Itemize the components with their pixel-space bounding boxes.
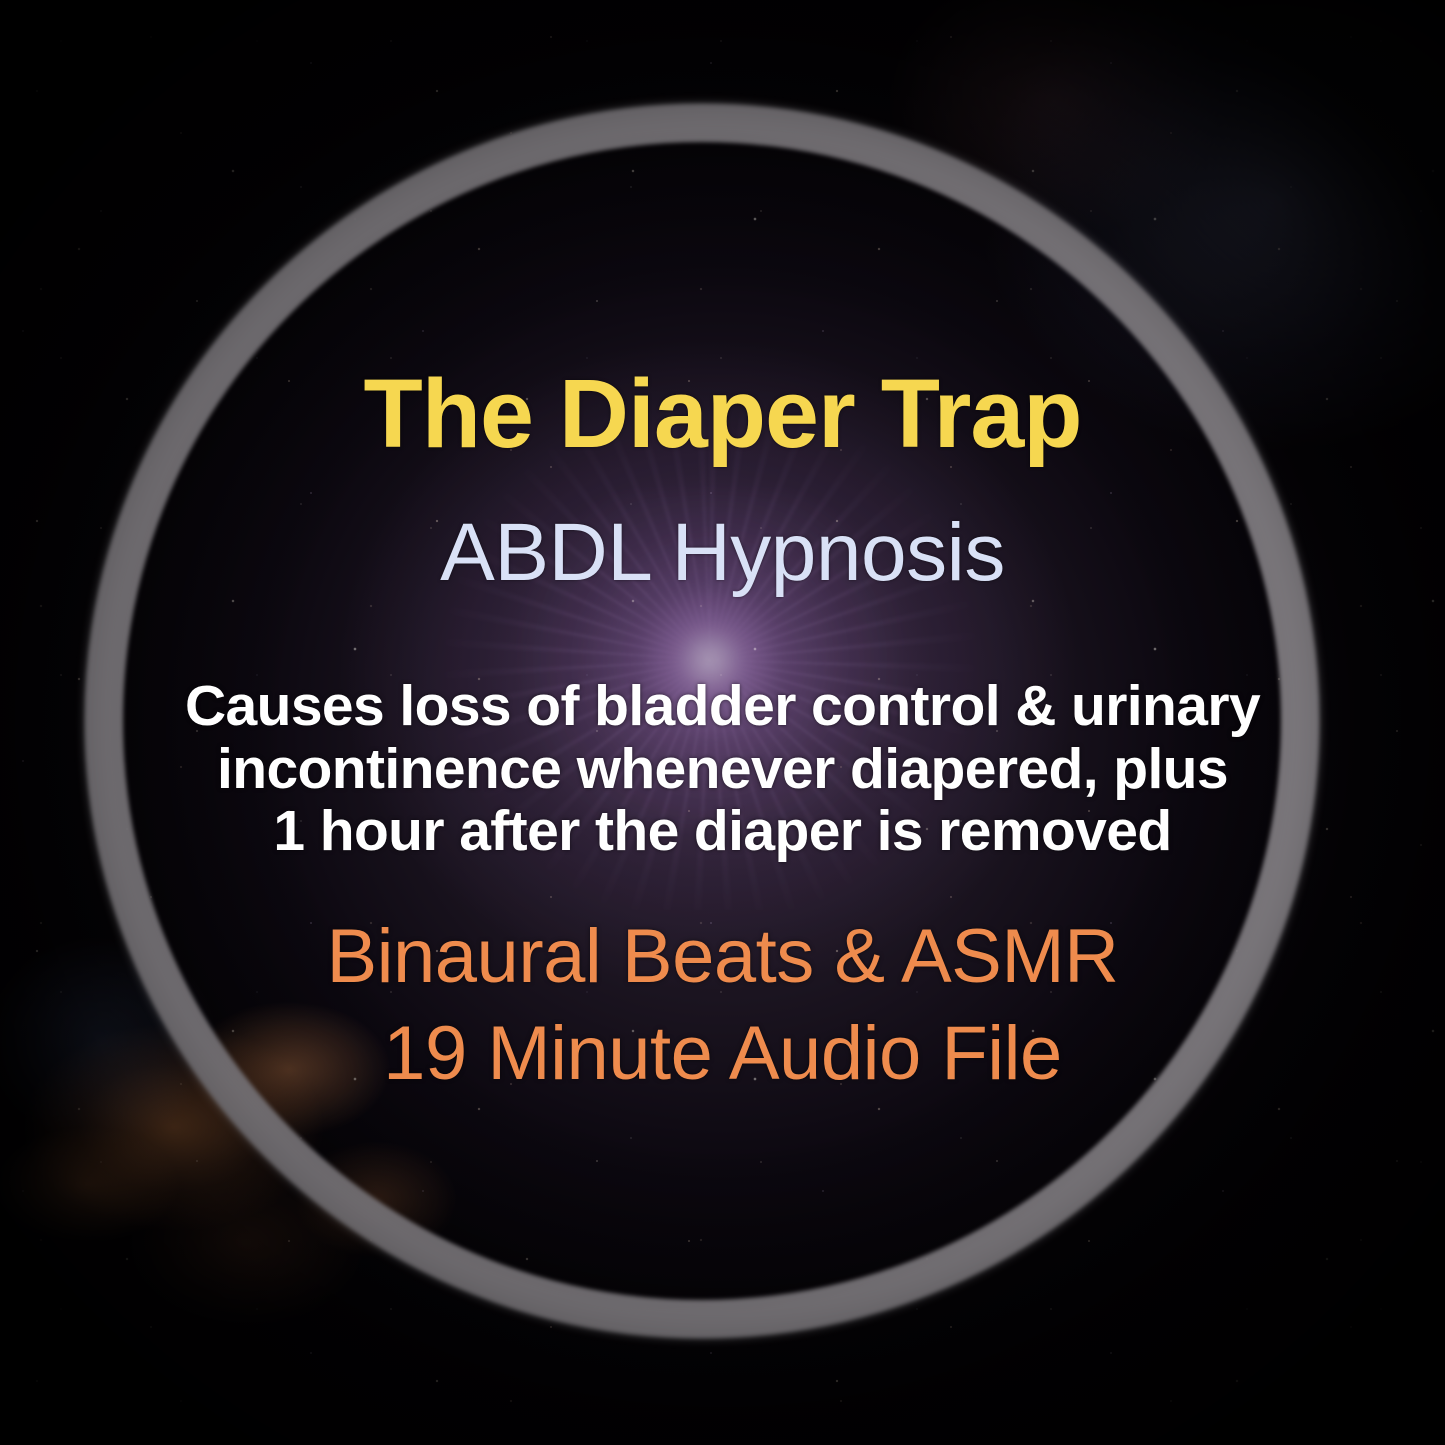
poster-subtitle: ABDL Hypnosis: [0, 508, 1445, 598]
poster-title: The Diaper Trap: [0, 362, 1445, 467]
text-content: The Diaper Trap ABDL Hypnosis Causes los…: [0, 0, 1445, 1445]
poster-tagline: Binaural Beats & ASMR 19 Minute Audio Fi…: [0, 908, 1445, 1103]
tagline-line-1: Binaural Beats & ASMR: [0, 908, 1445, 1005]
tagline-line-2: 19 Minute Audio File: [0, 1005, 1445, 1102]
poster-description: Causes loss of bladder control & urinary…: [0, 675, 1445, 863]
description-line-2: incontinence whenever diapered, plus: [0, 738, 1445, 801]
poster-canvas: The Diaper Trap ABDL Hypnosis Causes los…: [0, 0, 1445, 1445]
description-line-3: 1 hour after the diaper is removed: [0, 800, 1445, 863]
description-line-1: Causes loss of bladder control & urinary: [0, 675, 1445, 738]
